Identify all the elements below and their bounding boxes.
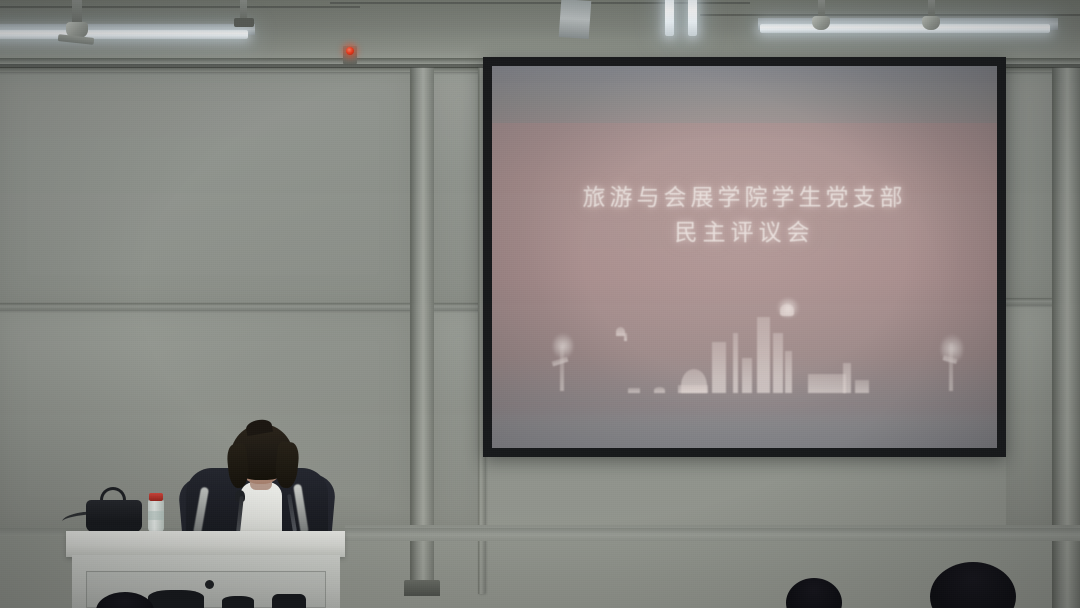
handbag — [86, 500, 142, 532]
classroom-photo-scene: 旅游与会展学院学生党支部 民主评议会 — [0, 0, 1080, 608]
podium-object-right — [272, 594, 306, 608]
whiteboard-panel-upper-left — [0, 70, 410, 306]
podium-knob — [205, 580, 214, 589]
water-bottle-cap — [149, 493, 163, 501]
indicator-led-icon — [346, 47, 354, 55]
ceiling-seam-right — [700, 14, 1080, 16]
whiteboard-panel-lower-mid — [434, 310, 484, 528]
light-housing-upper-center — [559, 0, 592, 39]
fan-hanger-rod-mid — [240, 0, 247, 20]
podium-object-mid — [222, 596, 254, 608]
wall-panel-lower-right — [1006, 304, 1054, 528]
podium-object-left — [148, 590, 204, 608]
fan-motor-right-a — [812, 16, 830, 30]
fluorescent-tube-vertical-b — [688, 0, 697, 36]
fan-mount-mid — [234, 18, 254, 27]
podium-top — [66, 531, 345, 557]
ceiling-seam-mid — [330, 2, 750, 4]
wall-pillar-foot — [404, 580, 440, 596]
fluorescent-tube-left — [0, 30, 248, 39]
projection-screen-surface: 旅游与会展学院学生党支部 民主评议会 — [492, 66, 997, 448]
slide-vignette — [492, 66, 997, 448]
projection-screen: 旅游与会展学院学生党支部 民主评议会 — [483, 57, 1006, 457]
ceiling-seam-left — [0, 6, 360, 8]
board-rail-horizontal-right — [1002, 298, 1058, 305]
fan-motor-right-b — [922, 16, 940, 30]
wall-panel-upper-right — [1006, 70, 1054, 300]
board-rail-horizontal-left — [0, 303, 414, 310]
whiteboard-panel-upper-mid — [434, 70, 484, 306]
fluorescent-tube-right — [760, 24, 1050, 33]
water-bottle-label — [148, 511, 164, 520]
wall-pillar-center — [410, 66, 434, 594]
fluorescent-tube-vertical-a — [665, 0, 674, 36]
